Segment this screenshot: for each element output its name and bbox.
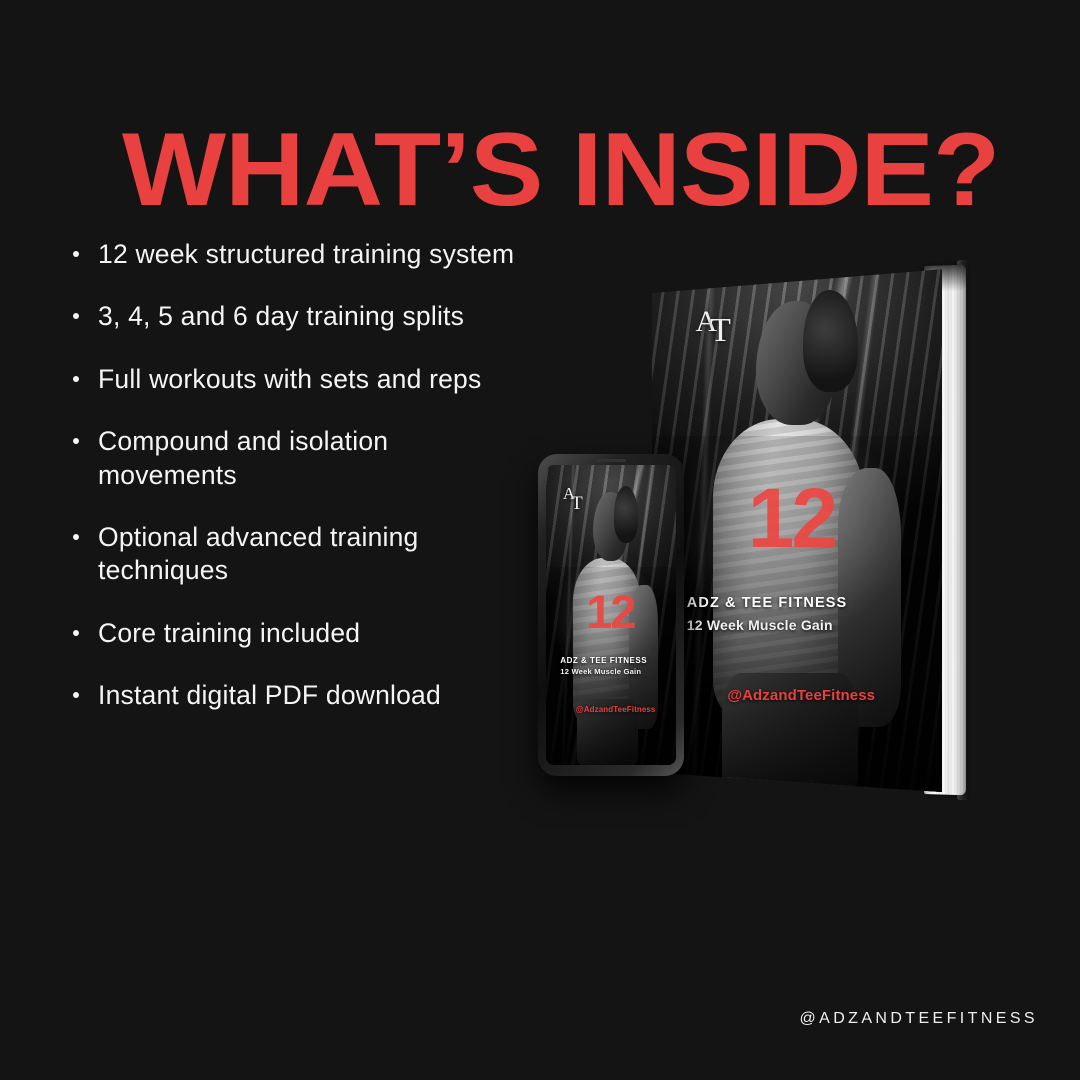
bullet-point-icon xyxy=(73,534,79,540)
bullet-point-icon xyxy=(73,438,79,444)
monogram-letter-a: A xyxy=(563,484,571,503)
list-item: Instant digital PDF download xyxy=(64,679,534,712)
bullet-point-icon xyxy=(73,692,79,698)
promo-graphic: WHAT’S INSIDE? 12 week structured traini… xyxy=(0,0,1080,1080)
cover-social-handle: @AdzandTeeFitness xyxy=(727,687,875,704)
monogram-letter-t: T xyxy=(571,493,579,514)
book-cover: AT 12 ADZ & TEE FITNESS 12 Week Muscle G… xyxy=(652,252,942,792)
list-item: Optional advanced training techniques xyxy=(64,521,534,588)
cover-brand-name: ADZ & TEE FITNESS xyxy=(687,595,848,611)
list-item-label: Compound and isolation movements xyxy=(98,426,388,489)
list-item-label: Full workouts with sets and reps xyxy=(98,364,481,394)
ebook-mockup: AT 12 ADZ & TEE FITNESS 12 Week Muscle G… xyxy=(652,252,962,802)
phone-screen: AT 12 ADZ & TEE FITNESS 12 Week Muscle G… xyxy=(546,465,676,765)
screen-social-handle: @AdzandTeeFitness xyxy=(576,705,656,714)
list-item-label: Instant digital PDF download xyxy=(98,680,441,710)
footer-social-handle: @ADZANDTEEFITNESS xyxy=(799,1010,1038,1028)
cover-subtitle: 12 Week Muscle Gain xyxy=(687,617,833,633)
page-title: WHAT’S INSIDE? xyxy=(122,118,1076,222)
phone-mockup: AT 12 ADZ & TEE FITNESS 12 Week Muscle G… xyxy=(538,454,684,776)
list-item: 3, 4, 5 and 6 day training splits xyxy=(64,300,534,333)
bullet-point-icon xyxy=(73,251,79,257)
at-monogram-logo: AT xyxy=(563,489,579,508)
bullet-point-icon xyxy=(73,313,79,319)
screen-subtitle: 12 Week Muscle Gain xyxy=(560,667,641,676)
athlete-hair xyxy=(803,290,858,393)
cover-number: 12 xyxy=(748,476,835,560)
bullet-point-icon xyxy=(73,376,79,382)
phone-speaker-icon xyxy=(596,459,626,462)
product-mockup-group: AT 12 ADZ & TEE FITNESS 12 Week Muscle G… xyxy=(520,240,1040,810)
list-item-label: Core training included xyxy=(98,618,360,648)
list-item: Compound and isolation movements xyxy=(64,425,534,492)
athlete-hair xyxy=(614,486,639,543)
list-item-label: 12 week structured training system xyxy=(98,239,514,269)
bullet-point-icon xyxy=(73,630,79,636)
monogram-letter-a: A xyxy=(696,305,711,338)
screen-number: 12 xyxy=(586,588,634,635)
list-item-label: 3, 4, 5 and 6 day training splits xyxy=(98,301,464,331)
list-item: Full workouts with sets and reps xyxy=(64,363,534,396)
feature-list: 12 week structured training system 3, 4,… xyxy=(64,238,534,712)
list-item-label: Optional advanced training techniques xyxy=(98,522,418,585)
screen-brand-name: ADZ & TEE FITNESS xyxy=(560,656,647,665)
list-item: Core training included xyxy=(64,617,534,650)
list-item: 12 week structured training system xyxy=(64,238,534,271)
monogram-letter-t: T xyxy=(710,312,724,349)
at-monogram-logo: AT xyxy=(696,309,724,343)
